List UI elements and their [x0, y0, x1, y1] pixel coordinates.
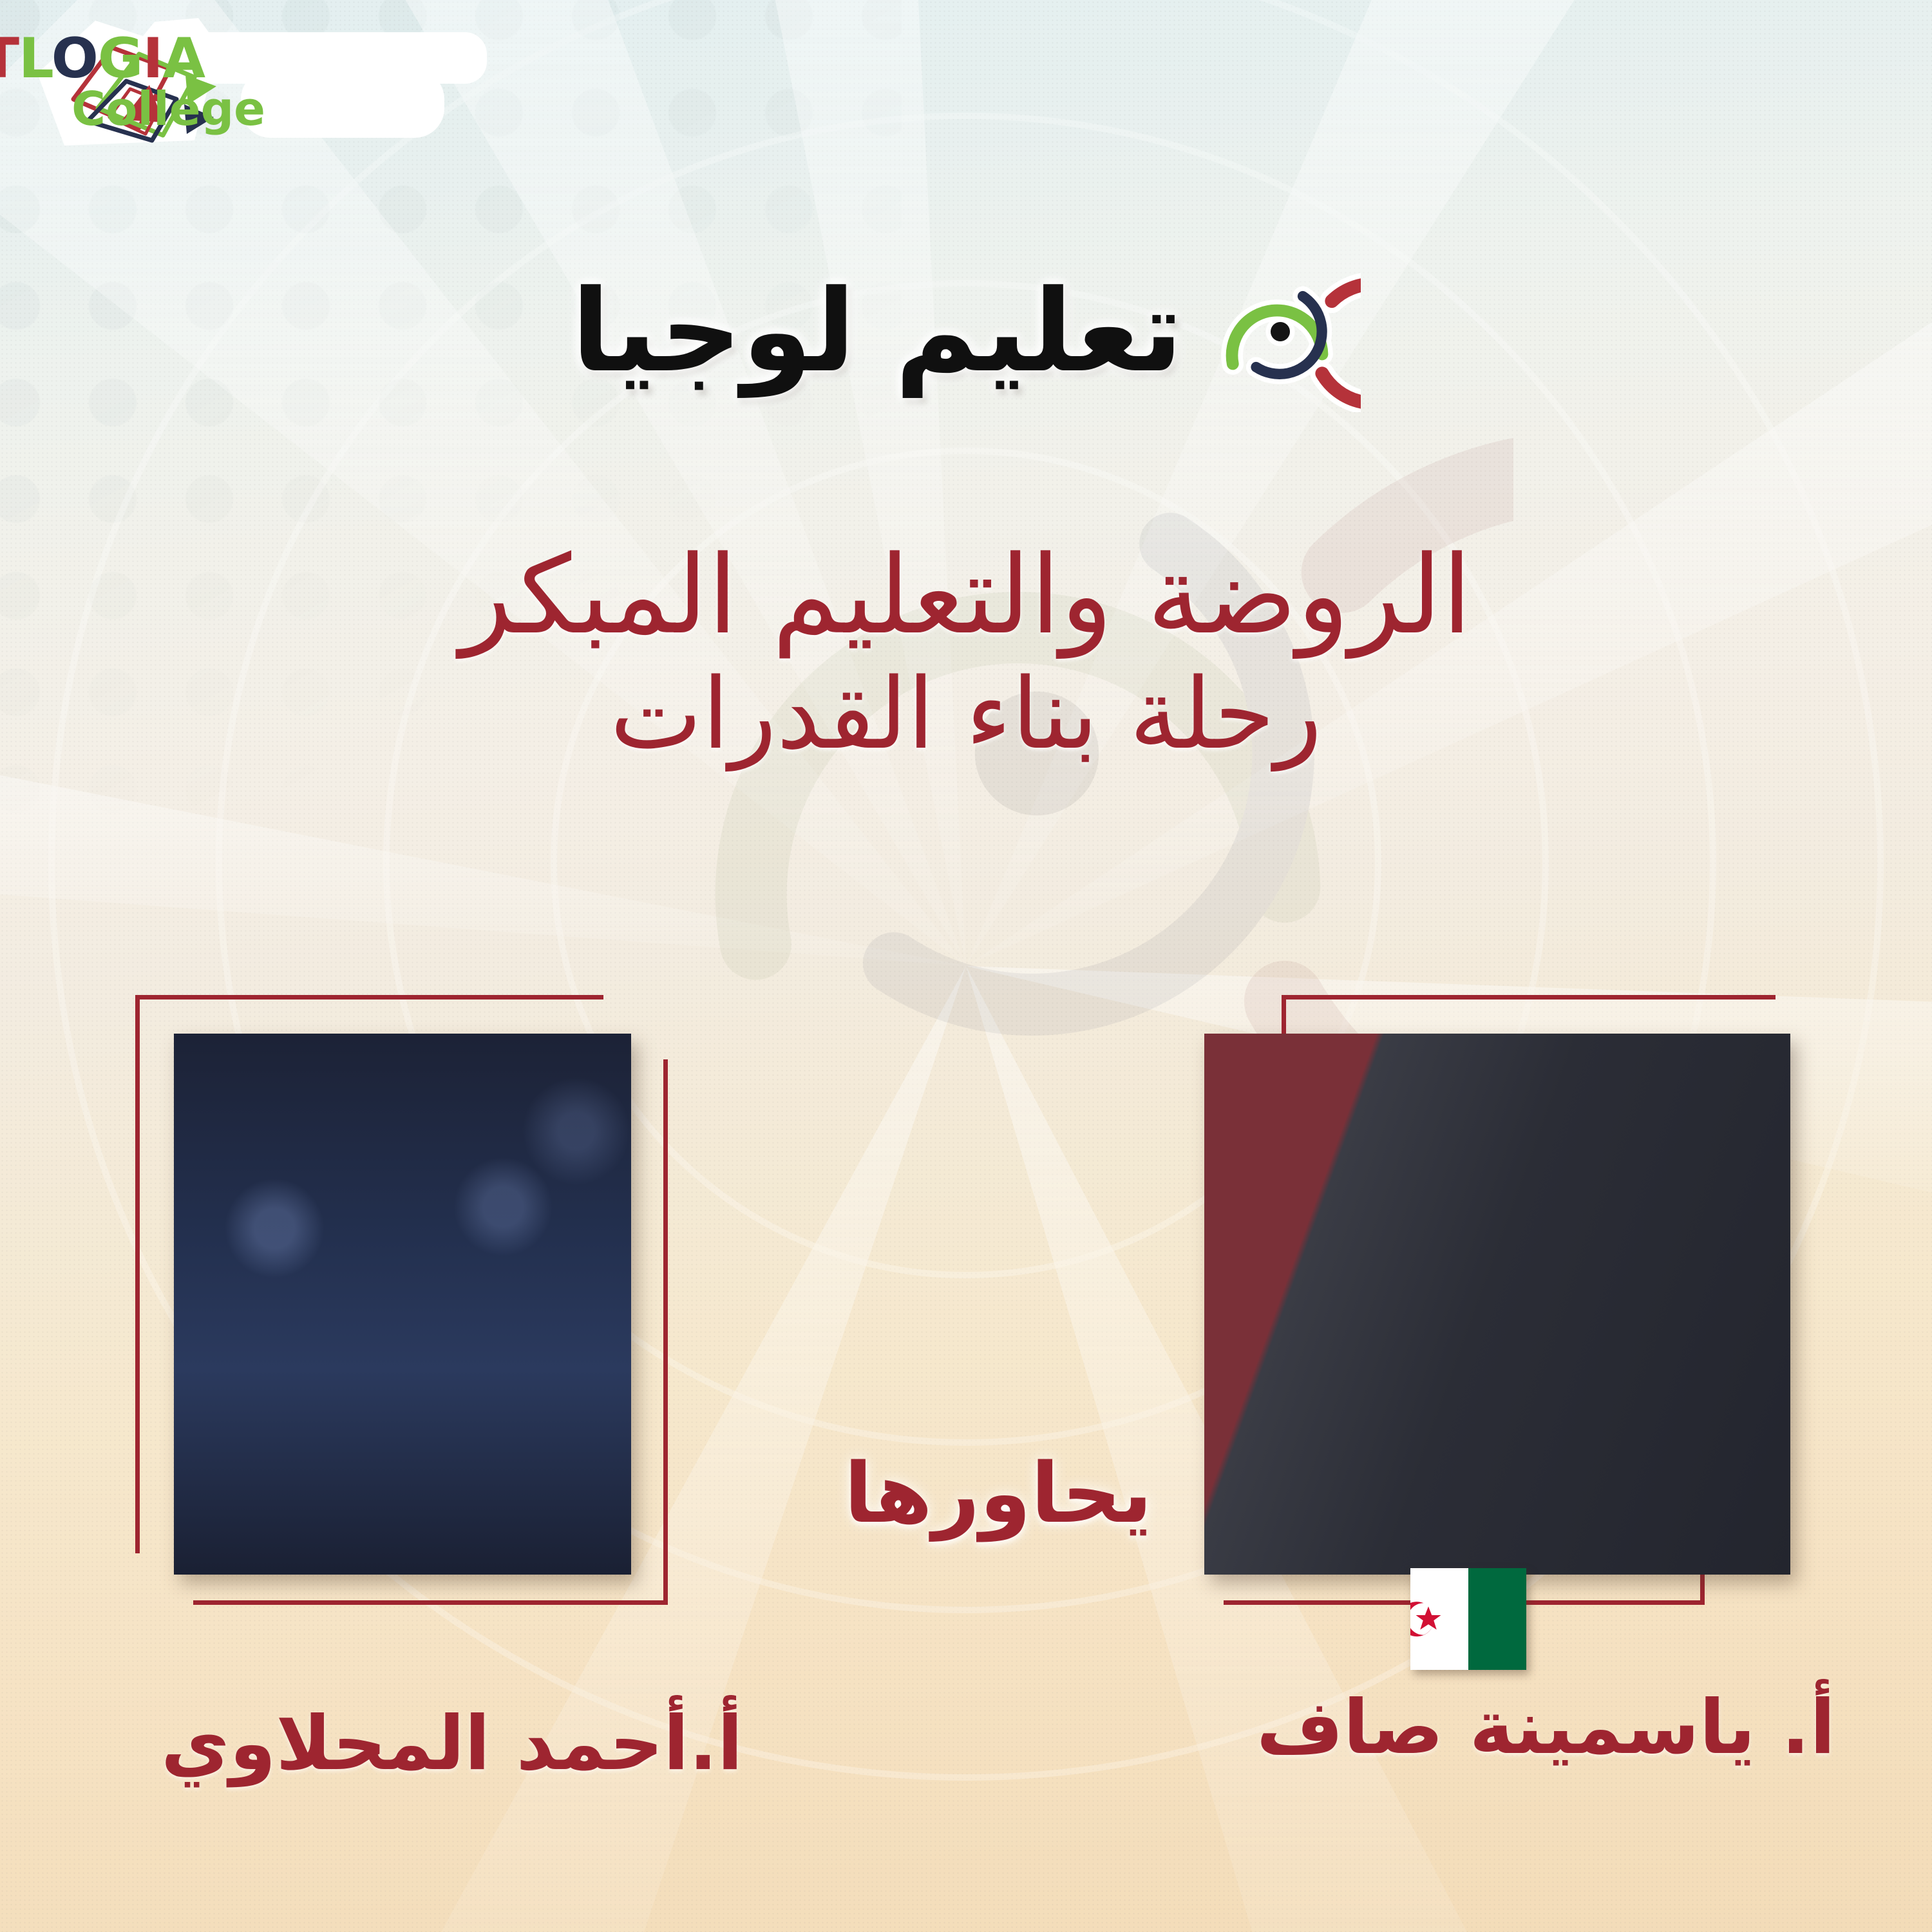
guest-frame-left — [122, 995, 805, 1716]
crescent-star-icon — [1410, 1568, 1467, 1670]
wordmark-arabic-text: تعليم لوجيا — [571, 275, 1183, 388]
guest-frame-right — [1198, 995, 1842, 1716]
arabic-wordmark-row: تعليم لوجيا — [0, 245, 1932, 419]
flag-white-band — [1410, 1568, 1468, 1670]
svg-text:College: College — [71, 82, 265, 136]
headline-line-2: رحلة بناء القدرات — [116, 656, 1816, 773]
guest-name-right: أ. ياسمينة صاف — [1256, 1684, 1835, 1771]
poster-canvas: TLOGIA. College — [0, 0, 1932, 1932]
flag-green-band — [1468, 1568, 1526, 1670]
guest-photo-right — [1204, 1034, 1790, 1575]
svg-text:TLOGIA.: TLOGIA. — [0, 26, 205, 91]
headline-line-1: الروضة والتعليم المبكر — [116, 535, 1816, 656]
brand-logo[interactable]: TLOGIA. College — [26, 14, 489, 149]
concentric-arcs-mark-icon — [1200, 251, 1361, 412]
algeria-flag-icon — [1410, 1568, 1526, 1670]
page-title: الروضة والتعليم المبكر رحلة بناء القدرات — [116, 535, 1816, 773]
interviewer-label: يحاورها — [792, 1446, 1204, 1542]
guest-name-left: أ.أحمد المحلاوي — [161, 1700, 743, 1787]
guest-photo-left — [174, 1034, 631, 1575]
